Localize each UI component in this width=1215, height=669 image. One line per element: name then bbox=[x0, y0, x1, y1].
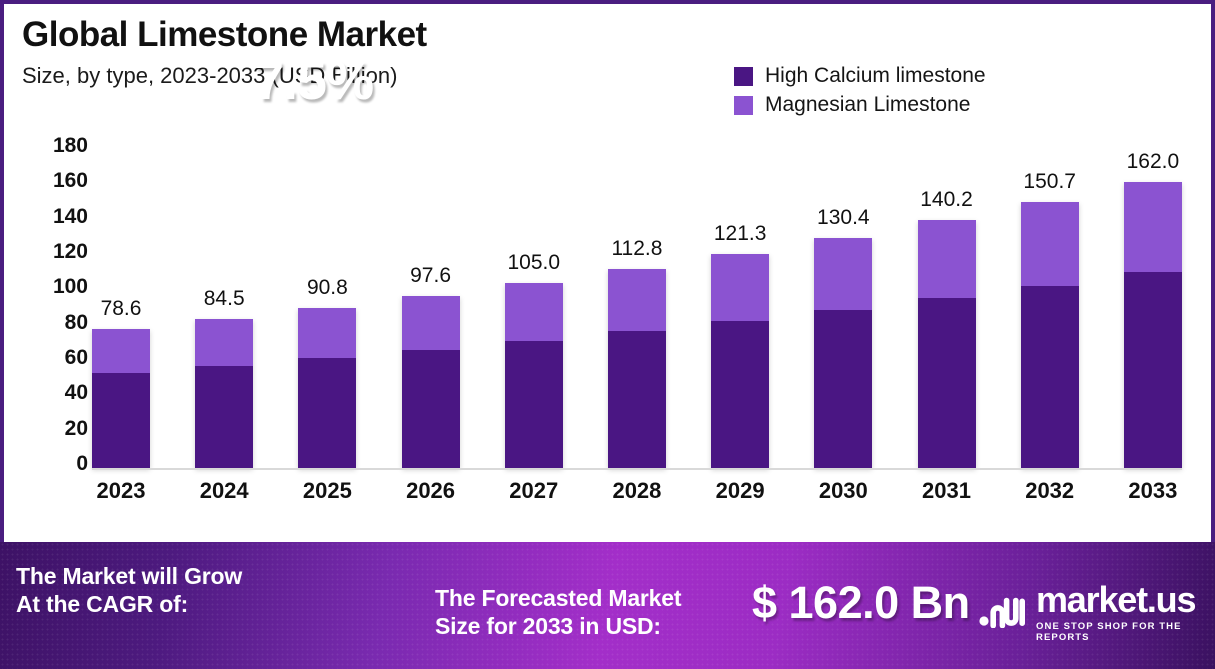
bar-segment-high-calcium[interactable] bbox=[1124, 272, 1182, 468]
cagr-label-line1: The Market will Grow bbox=[16, 562, 242, 590]
x-axis-tick: 2027 bbox=[505, 478, 563, 504]
bar-stack[interactable] bbox=[298, 308, 356, 468]
bar-stack[interactable] bbox=[1124, 182, 1182, 468]
x-axis: 2023202420252026202720282029203020312032… bbox=[92, 478, 1182, 504]
bar-column[interactable]: 97.6 bbox=[402, 150, 460, 468]
market-us-logo-icon bbox=[979, 592, 1026, 633]
legend-item-magnesian: Magnesian Limestone bbox=[734, 93, 986, 117]
x-axis-tick: 2031 bbox=[918, 478, 976, 504]
x-axis-tick: 2028 bbox=[608, 478, 666, 504]
bar-value-label: 162.0 bbox=[1127, 150, 1180, 174]
legend-label: High Calcium limestone bbox=[765, 64, 986, 88]
legend-swatch-icon bbox=[734, 67, 753, 86]
x-axis-tick: 2030 bbox=[814, 478, 872, 504]
bar-segment-magnesian[interactable] bbox=[505, 283, 563, 341]
bar-segment-high-calcium[interactable] bbox=[402, 350, 460, 468]
bar-stack[interactable] bbox=[92, 329, 150, 468]
bar-segment-high-calcium[interactable] bbox=[195, 366, 253, 468]
y-axis-tick: 120 bbox=[26, 240, 88, 264]
bar-column[interactable]: 130.4 bbox=[814, 150, 872, 468]
cagr-label-block: The Market will Grow At the CAGR of: bbox=[16, 562, 242, 618]
logo-tagline: ONE STOP SHOP FOR THE REPORTS bbox=[1036, 621, 1211, 643]
y-axis: 180160140120100806040200 bbox=[26, 140, 88, 470]
page-title: Global Limestone Market bbox=[22, 16, 427, 55]
market-us-logo[interactable]: market.us ONE STOP SHOP FOR THE REPORTS bbox=[979, 582, 1211, 643]
bar-segment-high-calcium[interactable] bbox=[711, 321, 769, 468]
bar-segment-high-calcium[interactable] bbox=[298, 358, 356, 468]
bar-value-label: 78.6 bbox=[101, 297, 142, 321]
bar-segment-magnesian[interactable] bbox=[814, 238, 872, 310]
x-axis-tick: 2032 bbox=[1021, 478, 1079, 504]
bar-column[interactable]: 112.8 bbox=[608, 150, 666, 468]
bar-group: 78.684.590.897.6105.0112.8121.3130.4140.… bbox=[92, 150, 1182, 468]
forecast-label-line1: The Forecasted Market bbox=[435, 584, 681, 612]
bar-segment-magnesian[interactable] bbox=[195, 319, 253, 366]
bar-value-label: 105.0 bbox=[507, 251, 560, 275]
forecast-label-block: The Forecasted Market Size for 2033 in U… bbox=[435, 584, 681, 640]
y-axis-tick: 80 bbox=[26, 311, 88, 335]
plot-area: 78.684.590.897.6105.0112.8121.3130.4140.… bbox=[92, 140, 1182, 470]
x-axis-tick: 2025 bbox=[298, 478, 356, 504]
bar-segment-high-calcium[interactable] bbox=[608, 331, 666, 468]
cagr-value: 7.5% bbox=[254, 50, 373, 112]
bar-stack[interactable] bbox=[608, 269, 666, 468]
bar-segment-magnesian[interactable] bbox=[1124, 182, 1182, 272]
bar-segment-magnesian[interactable] bbox=[918, 220, 976, 298]
bar-segment-high-calcium[interactable] bbox=[92, 373, 150, 468]
bar-segment-magnesian[interactable] bbox=[298, 308, 356, 359]
bar-column[interactable]: 121.3 bbox=[711, 150, 769, 468]
bar-value-label: 97.6 bbox=[410, 264, 451, 288]
bar-segment-magnesian[interactable] bbox=[402, 296, 460, 350]
x-axis-tick: 2029 bbox=[711, 478, 769, 504]
axis-baseline bbox=[92, 468, 1182, 470]
bar-segment-high-calcium[interactable] bbox=[1021, 286, 1079, 468]
y-axis-tick: 0 bbox=[26, 452, 88, 476]
legend-swatch-icon bbox=[734, 96, 753, 115]
bar-stack[interactable] bbox=[814, 238, 872, 468]
y-axis-tick: 60 bbox=[26, 346, 88, 370]
legend-item-high-calcium: High Calcium limestone bbox=[734, 64, 986, 88]
bar-column[interactable]: 162.0 bbox=[1124, 150, 1182, 468]
x-axis-tick: 2024 bbox=[195, 478, 253, 504]
bar-stack[interactable] bbox=[1021, 202, 1079, 468]
bar-segment-magnesian[interactable] bbox=[608, 269, 666, 332]
bar-column[interactable]: 140.2 bbox=[918, 150, 976, 468]
bar-value-label: 140.2 bbox=[920, 188, 973, 212]
bar-segment-high-calcium[interactable] bbox=[814, 310, 872, 468]
bar-column[interactable]: 84.5 bbox=[195, 150, 253, 468]
bar-segment-magnesian[interactable] bbox=[1021, 202, 1079, 286]
bar-segment-high-calcium[interactable] bbox=[505, 341, 563, 468]
y-axis-tick: 20 bbox=[26, 417, 88, 441]
bar-segment-high-calcium[interactable] bbox=[918, 298, 976, 468]
bar-column[interactable]: 150.7 bbox=[1021, 150, 1079, 468]
bar-value-label: 84.5 bbox=[204, 287, 245, 311]
y-axis-tick: 140 bbox=[26, 205, 88, 229]
x-axis-tick: 2023 bbox=[92, 478, 150, 504]
bar-stack[interactable] bbox=[505, 283, 563, 469]
chart-plot: 180160140120100806040200 78.684.590.897.… bbox=[26, 140, 1186, 490]
y-axis-tick: 160 bbox=[26, 169, 88, 193]
y-axis-tick: 40 bbox=[26, 381, 88, 405]
bar-column[interactable]: 90.8 bbox=[298, 150, 356, 468]
bar-value-label: 130.4 bbox=[817, 206, 870, 230]
x-axis-tick: 2026 bbox=[402, 478, 460, 504]
bar-stack[interactable] bbox=[195, 319, 253, 468]
bar-value-label: 112.8 bbox=[611, 237, 662, 261]
x-axis-tick: 2033 bbox=[1124, 478, 1182, 504]
bar-value-label: 90.8 bbox=[307, 276, 348, 300]
cagr-label-line2: At the CAGR of: bbox=[16, 590, 242, 618]
bar-column[interactable]: 78.6 bbox=[92, 150, 150, 468]
chart-legend: High Calcium limestone Magnesian Limesto… bbox=[734, 64, 986, 117]
bar-value-label: 150.7 bbox=[1023, 170, 1076, 194]
bar-value-label: 121.3 bbox=[714, 222, 767, 246]
bar-segment-magnesian[interactable] bbox=[92, 329, 150, 373]
bar-stack[interactable] bbox=[402, 296, 460, 468]
logo-wordmark: market.us bbox=[1036, 582, 1211, 618]
bar-column[interactable]: 105.0 bbox=[505, 150, 563, 468]
infographic-card: Global Limestone Market Size, by type, 2… bbox=[0, 0, 1215, 669]
y-axis-tick: 100 bbox=[26, 275, 88, 299]
legend-label: Magnesian Limestone bbox=[765, 93, 970, 117]
bar-segment-magnesian[interactable] bbox=[711, 254, 769, 321]
y-axis-tick: 180 bbox=[26, 134, 88, 158]
market-us-logo-text: market.us ONE STOP SHOP FOR THE REPORTS bbox=[1036, 582, 1211, 643]
bar-stack[interactable] bbox=[711, 254, 769, 468]
bar-stack[interactable] bbox=[918, 220, 976, 468]
forecast-label-line2: Size for 2033 in USD: bbox=[435, 612, 681, 640]
forecast-size-value: $ 162.0 Bn bbox=[752, 577, 970, 629]
